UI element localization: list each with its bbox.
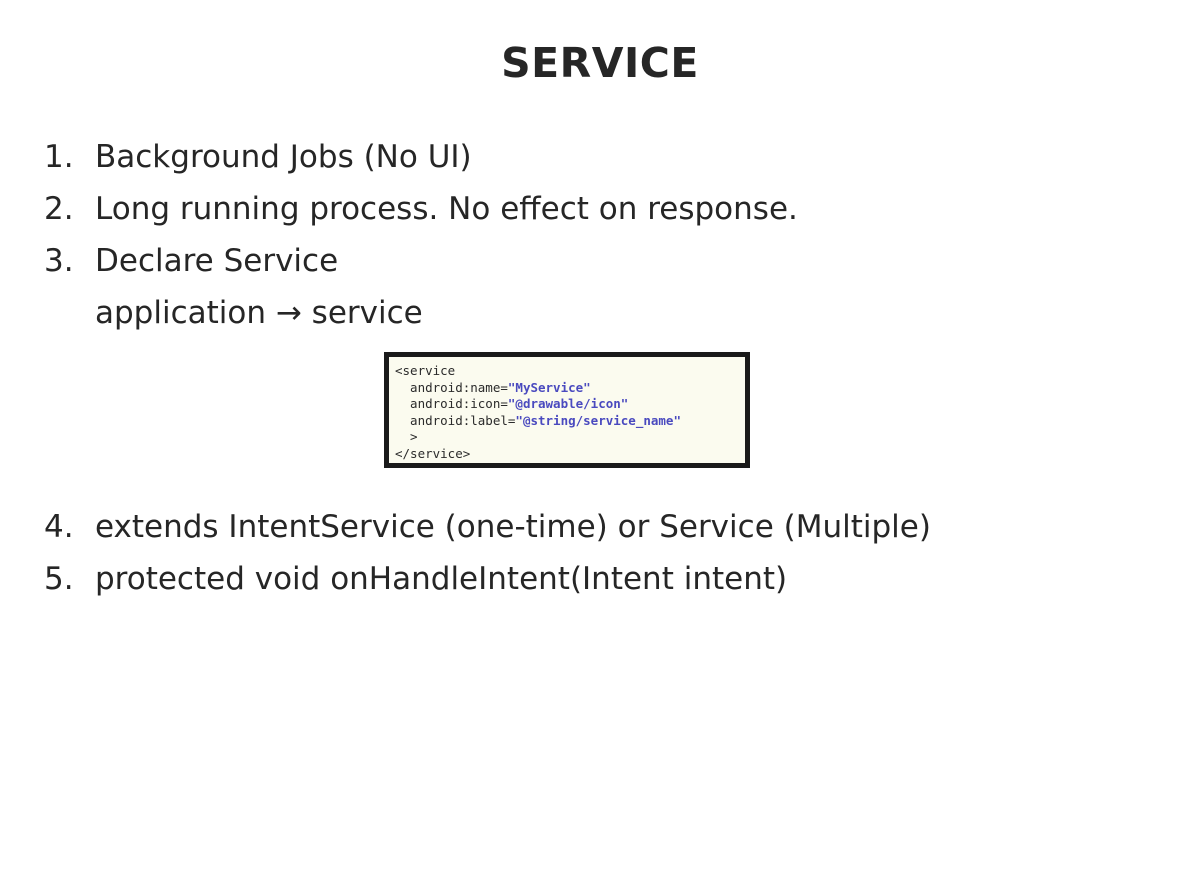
list-item: 5. protected void onHandleIntent(Intent … [44,553,1164,605]
numbered-list-top: 1. Background Jobs (No UI) 2. Long runni… [44,131,1124,339]
code-line-prefix: > [395,429,418,444]
list-item: 4. extends IntentService (one-time) or S… [44,501,1164,553]
slide-canvas: SERVICE 1. Background Jobs (No UI) 2. Lo… [0,0,1200,891]
code-line: android:icon="@drawable/icon" [395,396,745,413]
code-line-value: "MyService" [508,380,591,395]
code-line-prefix: </service> [395,446,470,461]
list-item-marker: 5. [44,553,95,605]
code-line-prefix: android:label= [395,413,515,428]
code-snippet-box: <service android:name="MyService" androi… [384,352,750,468]
list-item: 2. Long running process. No effect on re… [44,183,1124,235]
numbered-list-bottom: 4. extends IntentService (one-time) or S… [44,501,1164,605]
code-line-prefix: android:name= [395,380,508,395]
code-line-prefix: android:icon= [395,396,508,411]
code-line-value: "@string/service_name" [515,413,681,428]
code-line-value: "@drawable/icon" [508,396,628,411]
list-item: 3. Declare Service [44,235,1124,287]
list-item-label: Declare Service [95,235,1124,287]
list-item-continuation: . application → service [44,287,1124,339]
list-item-marker: 2. [44,183,95,235]
code-line: > [395,429,745,446]
list-item: 1. Background Jobs (No UI) [44,131,1124,183]
list-item-continuation-label: application → service [95,287,1124,339]
list-item-label: extends IntentService (one-time) or Serv… [95,501,1164,553]
code-line-prefix: <service [395,363,455,378]
list-item-marker: 1. [44,131,95,183]
page-title: SERVICE [0,38,1200,88]
list-item-label: protected void onHandleIntent(Intent int… [95,553,1164,605]
code-line: <service [395,363,745,380]
list-item-marker: 3. [44,235,95,287]
code-line: android:label="@string/service_name" [395,413,745,430]
list-item-label: Background Jobs (No UI) [95,131,1124,183]
code-line: android:name="MyService" [395,380,745,397]
code-line: </service> [395,446,745,463]
list-item-marker: 4. [44,501,95,553]
list-item-label: Long running process. No effect on respo… [95,183,1124,235]
